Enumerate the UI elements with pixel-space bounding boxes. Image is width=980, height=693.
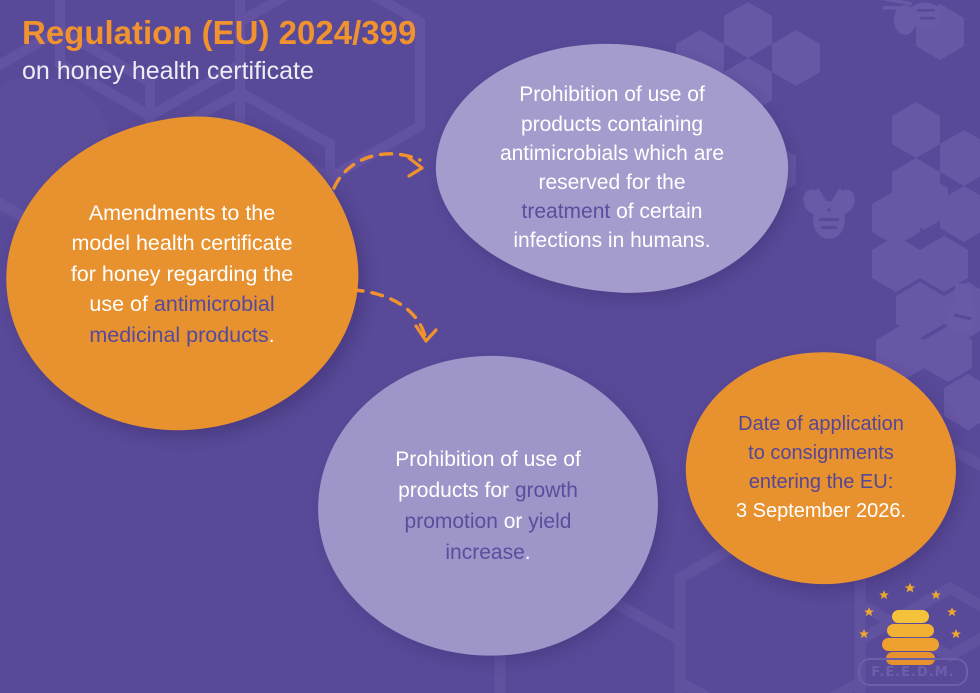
- amend-highlight-medicinal-products: medicinal products: [89, 323, 268, 347]
- prohib2-highlight-promotion: promotion: [405, 510, 498, 533]
- prohib2-line-3-mid: or: [498, 510, 528, 533]
- prohib2-line-4-tail: .: [525, 541, 531, 564]
- blob-date-text: Date of application to consignments ente…: [686, 352, 956, 584]
- prohib2-highlight-increase: increase: [445, 541, 524, 564]
- feedm-logo-text: F.E.E.D.M.: [871, 665, 954, 680]
- page-title-block: Regulation (EU) 2024/399 on honey health…: [22, 14, 416, 86]
- prohib1-line-6: infections in humans.: [513, 229, 710, 252]
- page-title: Regulation (EU) 2024/399: [22, 14, 416, 52]
- feedm-logo-text-pill: F.E.E.D.M.: [858, 658, 968, 686]
- prohib1-line-2: products containing: [521, 113, 703, 136]
- blob-prohibition-antimicrobials-text: Prohibition of use of products containin…: [436, 44, 788, 292]
- prohib1-line-1: Prohibition of use of: [519, 83, 705, 106]
- blob-date-of-application: Date of application to consignments ente…: [686, 352, 956, 584]
- amend-line-2: model health certificate: [71, 231, 292, 255]
- prohib1-line-4: reserved for the: [538, 171, 685, 194]
- date-value: 3 September 2026.: [736, 500, 906, 522]
- date-line-2: to consignments: [748, 442, 894, 464]
- prohib2-highlight-yield: yield: [528, 510, 571, 533]
- amend-line-3: for honey regarding the: [71, 262, 293, 286]
- amend-highlight-antimicrobial: antimicrobial: [154, 292, 275, 316]
- infographic-canvas: Regulation (EU) 2024/399 on honey health…: [0, 0, 980, 693]
- prohib2-line-2-plain: products for: [398, 479, 515, 502]
- blob-prohibition-growth: Prohibition of use of products for growt…: [318, 356, 658, 656]
- amend-line-4-plain: use of: [89, 292, 154, 316]
- honey-stack-icon: [882, 610, 939, 665]
- blob-amendments: Amendments to the model health certifica…: [6, 118, 358, 430]
- blob-amendments-text: Amendments to the model health certifica…: [6, 118, 358, 430]
- date-line-1: Date of application: [738, 413, 904, 435]
- prohib1-highlight-treatment: treatment: [522, 200, 611, 223]
- amend-line-1: Amendments to the: [89, 201, 275, 225]
- amend-line-5-tail: .: [269, 323, 275, 347]
- prohib2-highlight-growth: growth: [515, 479, 578, 502]
- blob-prohibition-antimicrobials: Prohibition of use of products containin…: [436, 44, 788, 292]
- prohib2-line-1: Prohibition of use of: [395, 448, 581, 471]
- prohib1-line-5-tail: of certain: [610, 200, 702, 223]
- feedm-logo[interactable]: F.E.E.D.M.: [848, 578, 972, 686]
- page-subtitle: on honey health certificate: [22, 56, 416, 86]
- prohib1-line-3: antimicrobials which are: [500, 142, 724, 165]
- date-line-3: entering the EU:: [749, 471, 894, 493]
- blob-prohibition-growth-text: Prohibition of use of products for growt…: [318, 356, 658, 656]
